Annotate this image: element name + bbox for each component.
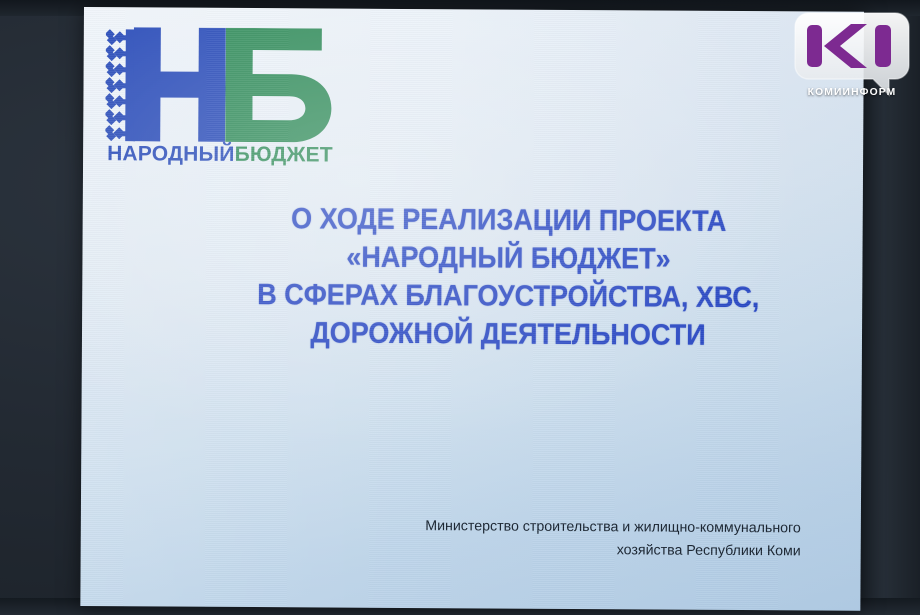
narodny-budget-logo: НАРОДНЫЙБЮДЖЕТ xyxy=(105,25,338,176)
slide-title-line-3: В СФЕРАХ БЛАГОУСТРОЙСТВА, ХВС, xyxy=(205,276,812,318)
komi-ornament-icon xyxy=(105,29,136,141)
logo-letters xyxy=(133,25,334,144)
logo-letter-b-icon xyxy=(225,28,334,143)
presentation-slide: НАРОДНЫЙБЮДЖЕТ О ХОДЕ РЕАЛИЗАЦИИ ПРОЕКТА… xyxy=(80,7,864,611)
projection-screen: НАРОДНЫЙБЮДЖЕТ О ХОДЕ РЕАЛИЗАЦИИ ПРОЕКТА… xyxy=(80,7,864,611)
slide-title: О ХОДЕ РЕАЛИЗАЦИИ ПРОЕКТА «НАРОДНЫЙ БЮДЖ… xyxy=(204,200,812,355)
ministry-line-1: Министерство строительства и жилищно-ком… xyxy=(321,514,801,540)
logo-wordmark: НАРОДНЫЙБЮДЖЕТ xyxy=(107,143,333,165)
slide-title-line-4: ДОРОЖНОЙ ДЕЯТЕЛЬНОСТИ xyxy=(204,313,811,355)
logo-letter-n-icon xyxy=(133,27,226,142)
logo-wordmark-blue: НАРОДНЫЙ xyxy=(107,142,235,166)
screenshot-root: НАРОДНЫЙБЮДЖЕТ О ХОДЕ РЕАЛИЗАЦИИ ПРОЕКТА… xyxy=(0,0,920,615)
ministry-line-2: хозяйства Республики Коми xyxy=(321,537,801,563)
room-background-right xyxy=(860,0,920,615)
slide-title-line-2: «НАРОДНЫЙ БЮДЖЕТ» xyxy=(205,238,812,280)
logo-wordmark-green: БЮДЖЕТ xyxy=(235,143,333,167)
slide-title-line-1: О ХОДЕ РЕАЛИЗАЦИИ ПРОЕКТА xyxy=(205,200,812,242)
ministry-attribution: Министерство строительства и жилищно-ком… xyxy=(321,514,801,563)
